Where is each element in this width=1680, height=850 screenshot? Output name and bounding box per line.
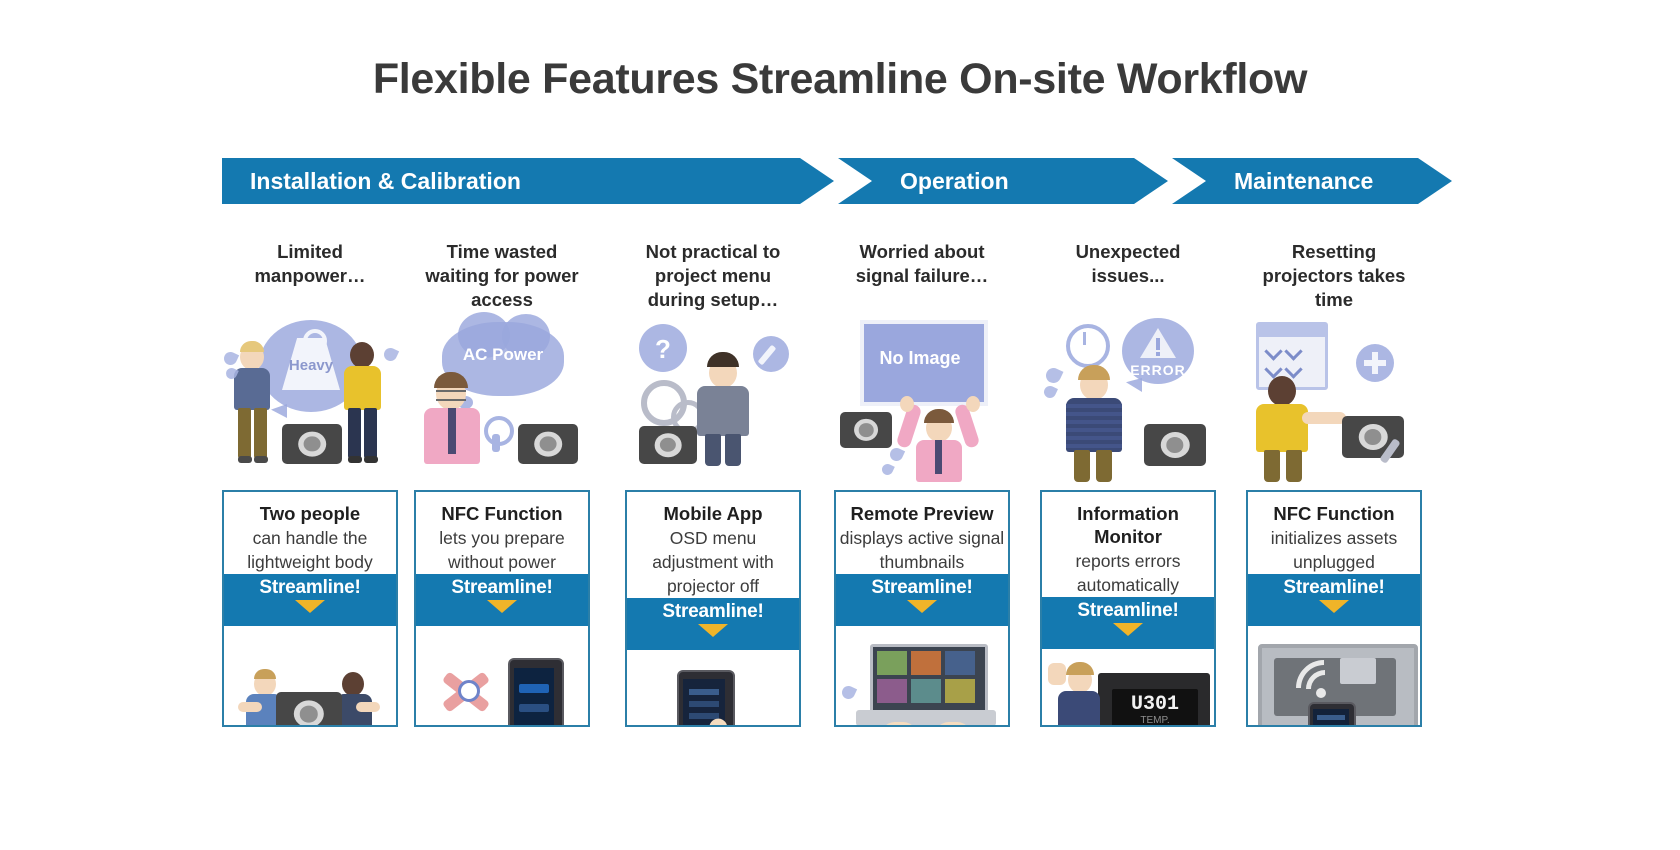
down-arrow-icon [487, 600, 517, 613]
laptop-screen [870, 644, 988, 716]
problem-illustration-1: Heavy [222, 316, 398, 484]
solution-card-6[interactable]: NFC Function initializes assets unplugge… [1246, 490, 1422, 727]
weight-handle-icon [303, 329, 327, 353]
nfc-tag-icon [1340, 658, 1376, 684]
solution-card-5[interactable]: Information Monitor reports errors autom… [1040, 490, 1216, 727]
solution-body-6: initializes assets unplugged [1248, 526, 1420, 574]
smartphone-icon[interactable] [508, 658, 564, 727]
down-arrow-icon [295, 600, 325, 613]
streamline-bar-1[interactable]: Streamline! [224, 574, 396, 626]
problem-illustration-4: No Image [834, 316, 1010, 484]
workflow-column-5: Unexpected issues... ERROR [1040, 240, 1216, 727]
problem-illustration-5: ERROR [1040, 316, 1216, 484]
phase-label-operation: Operation [900, 168, 1009, 195]
phase-segment-operation[interactable]: Operation [838, 158, 1168, 204]
phase-banner: Installation & Calibration Operation Mai… [222, 158, 1452, 204]
workflow-column-1: Limited manpower… Heavy [222, 240, 398, 727]
workflow-column-3: Not practical to project menu during set… [625, 240, 801, 727]
projector-icon [1144, 424, 1206, 466]
streamline-label-3: Streamline! [662, 601, 763, 623]
streamline-bar-5[interactable]: Streamline! [1042, 597, 1214, 649]
workflow-column-2: Time wasted waiting for power access AC … [414, 240, 590, 727]
solution-headline-3: Mobile App [627, 502, 799, 525]
clock-icon [1066, 324, 1110, 368]
solution-body-2: lets you prepare without power [416, 526, 588, 574]
pointing-arm [1302, 412, 1346, 424]
hand-icon [671, 726, 727, 727]
projector-icon [276, 692, 342, 727]
projector-icon [282, 424, 342, 464]
phase-label-maintenance: Maintenance [1234, 168, 1373, 195]
bubble-tail [271, 404, 287, 418]
raised-hand-icon [1048, 663, 1066, 685]
phase-segment-installation[interactable]: Installation & Calibration [222, 158, 834, 204]
streamline-label-4: Streamline! [871, 577, 972, 599]
solution-body-5: reports errors automatically [1042, 549, 1214, 597]
solution-body-1: can handle the lightweight body [224, 526, 396, 574]
down-arrow-icon [907, 600, 937, 613]
solution-body-4: displays active signal thumbnails [836, 526, 1008, 574]
streamline-label-2: Streamline! [451, 577, 552, 599]
problem-text-5: Unexpected issues... [1040, 240, 1216, 312]
streamline-bar-6[interactable]: Streamline! [1248, 574, 1420, 626]
phase-segment-maintenance[interactable]: Maintenance [1172, 158, 1452, 204]
solution-card-3[interactable]: Mobile App OSD menu adjustment with proj… [625, 490, 801, 727]
problem-illustration-6 [1246, 316, 1422, 484]
bubble-label-2: AC Power [448, 342, 558, 368]
workflow-column-6: Resetting projectors takes time [1246, 240, 1422, 727]
display-sub: TEMP. [1112, 715, 1198, 726]
projector-icon [840, 412, 892, 448]
infographic-page: Flexible Features Streamline On-site Wor… [0, 0, 1680, 850]
smartphone-icon[interactable] [677, 670, 735, 727]
problem-text-6: Resetting projectors takes time [1246, 240, 1422, 312]
bubble-label-1: Heavy [280, 354, 342, 376]
solution-card-2[interactable]: NFC Function lets you prepare without po… [414, 490, 590, 727]
status-panel: U301 TEMP. [1098, 673, 1210, 727]
solution-card-1[interactable]: Two people can handle the lightweight bo… [222, 490, 398, 727]
page-title: Flexible Features Streamline On-site Wor… [0, 55, 1680, 104]
solution-headline-4: Remote Preview [836, 502, 1008, 525]
solution-card-4[interactable]: Remote Preview displays active signal th… [834, 490, 1010, 727]
streamline-label-6: Streamline! [1283, 577, 1384, 599]
display-code: U301 [1112, 693, 1198, 716]
problem-text-2: Time wasted waiting for power access [414, 240, 590, 312]
projector-icon [639, 426, 697, 464]
down-arrow-icon [1319, 600, 1349, 613]
down-arrow-icon [1113, 623, 1143, 636]
problem-text-3: Not practical to project menu during set… [625, 240, 801, 312]
streamline-bar-2[interactable]: Streamline! [416, 574, 588, 626]
solution-body-3: OSD menu adjustment with projector off [627, 526, 799, 598]
solution-headline-1: Two people [224, 502, 396, 525]
streamline-bar-4[interactable]: Streamline! [836, 574, 1008, 626]
problem-illustration-2: AC Power [414, 316, 590, 484]
down-arrow-icon [698, 624, 728, 637]
problem-text-4: Worried about signal failure… [834, 240, 1010, 312]
phase-label-installation: Installation & Calibration [250, 168, 521, 195]
solution-headline-2: NFC Function [416, 502, 588, 525]
screen-label-no-image: No Image [860, 348, 980, 369]
projector-icon [518, 424, 578, 464]
solution-headline-6: NFC Function [1248, 502, 1420, 525]
projector-icon [1342, 416, 1404, 458]
solution-headline-5: Information Monitor [1042, 502, 1214, 548]
streamline-bar-3[interactable]: Streamline! [627, 598, 799, 650]
streamline-label-5: Streamline! [1077, 600, 1178, 622]
problem-illustration-3: ? [625, 316, 801, 484]
workflow-column-4: Worried about signal failure… No Image R… [834, 240, 1010, 727]
problem-text-1: Limited manpower… [222, 240, 398, 312]
bubble-label-5: ERROR [1122, 360, 1194, 380]
smartphone-icon[interactable] [1308, 702, 1356, 727]
bubble-label-3: ? [639, 328, 687, 370]
workflow-columns: Limited manpower… Heavy [222, 240, 1452, 770]
streamline-label-1: Streamline! [259, 577, 360, 599]
